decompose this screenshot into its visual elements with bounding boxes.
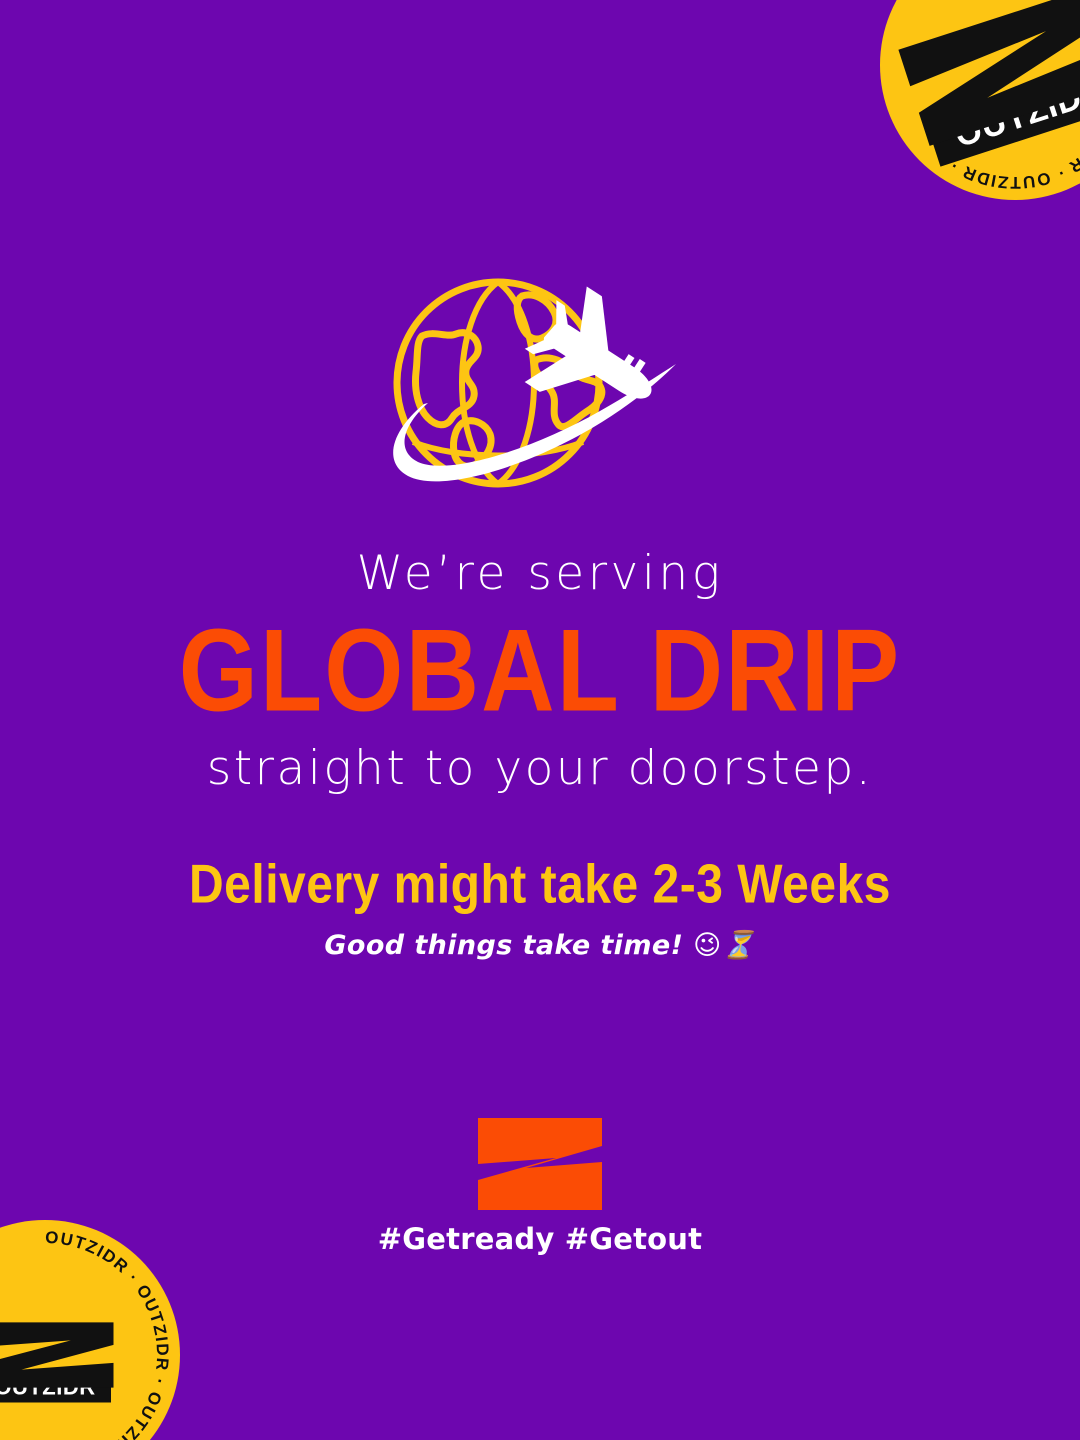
brand-stamp-top-right: OUTZIDR · OUTZIDR · OUTZIDR · OUTZIDR · …: [880, 0, 1080, 200]
outzidr-z-logo: [478, 1118, 602, 1210]
stamp-core-bottom-left: OUTZIDR: [0, 1308, 118, 1403]
poster-canvas: OUTZIDR · OUTZIDR · OUTZIDR · OUTZIDR · …: [0, 0, 1080, 1440]
stamp-z-mark-top-right: [896, 0, 1080, 118]
eyebrow-text: We’re serving: [0, 550, 1080, 597]
subhead-text: straight to your doorstep.: [0, 745, 1080, 792]
brand-tagline: #Getready #Getout: [0, 1222, 1080, 1256]
message-block: We’re serving GLOBAL DRIP straight to yo…: [0, 550, 1080, 959]
reassurance-text: Good things take time! 😉⏳: [0, 932, 1080, 959]
page-title: GLOBAL DRIP: [0, 613, 1080, 730]
stamp-z-mark-bottom-left: [0, 1308, 110, 1370]
footer-block: #Getready #Getout: [0, 1118, 1080, 1256]
delivery-notice: Delivery might take 2-3 Weeks: [0, 858, 1080, 913]
globe-airplane-icon: [358, 272, 722, 514]
